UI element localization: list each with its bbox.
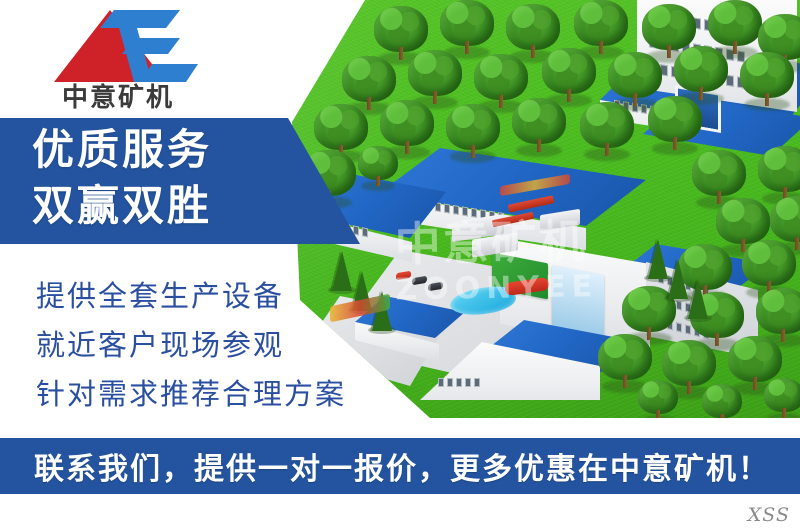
tree xyxy=(738,52,796,110)
tree xyxy=(646,96,704,154)
headline-text: 优质服务 双赢双胜 xyxy=(32,122,332,234)
benefits-list: 提供全套生产设备 就近客户现场参观 针对需求推荐合理方案 xyxy=(36,272,376,419)
tree xyxy=(510,98,568,156)
conifer-tree xyxy=(648,236,668,282)
benefit-item-3: 针对需求推荐合理方案 xyxy=(36,370,376,419)
brand-logo: 中意矿机 xyxy=(48,8,223,116)
tree xyxy=(578,102,636,160)
logo-mark-icon xyxy=(48,8,223,86)
brand-name: 中意矿机 xyxy=(62,82,212,114)
tree xyxy=(762,378,800,418)
tree xyxy=(700,384,744,418)
call-to-action-bar: 联系我们，提供一对一报价，更多优惠在中意矿机！ xyxy=(0,438,800,494)
tree xyxy=(636,380,680,418)
signature-watermark: XSS xyxy=(748,504,790,526)
conifer-tree xyxy=(668,256,688,302)
benefit-item-1: 提供全套生产设备 xyxy=(36,272,376,321)
cta-text: 联系我们，提供一对一报价，更多优惠在中意矿机！ xyxy=(34,444,770,488)
headline-line-2: 双赢双胜 xyxy=(32,178,332,234)
tree xyxy=(444,104,502,162)
benefit-item-2: 就近客户现场参观 xyxy=(36,321,376,370)
promo-poster: 中意矿机 ZOONYEE 中意矿机 优质服务 xyxy=(0,0,800,530)
conifer-tree xyxy=(688,276,708,322)
headline-line-1: 优质服务 xyxy=(32,122,332,178)
